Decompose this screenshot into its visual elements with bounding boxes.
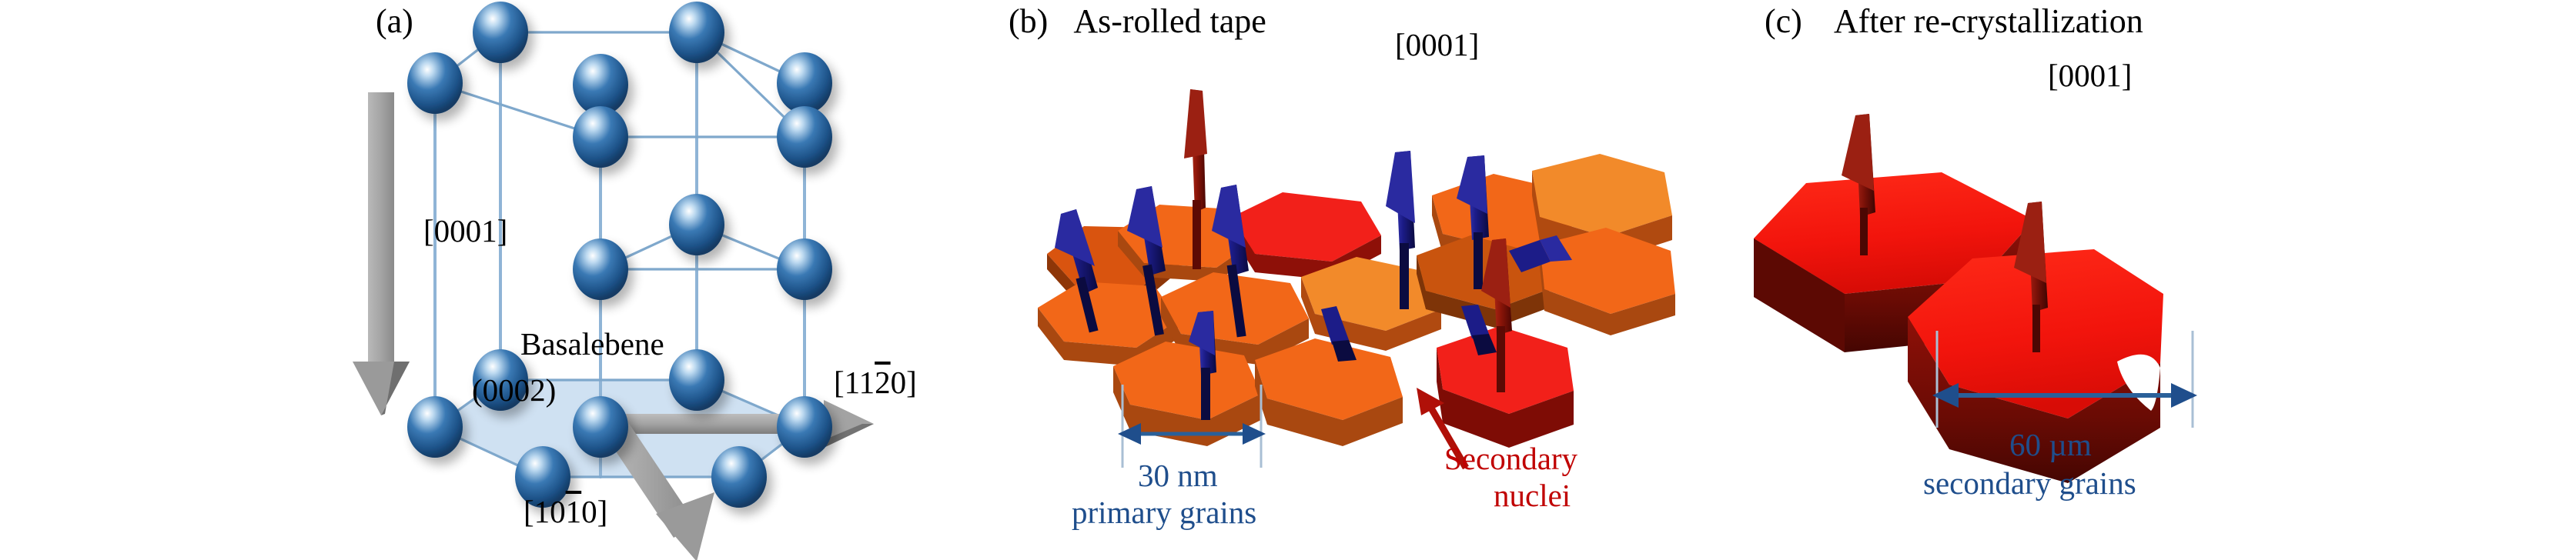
figure-root: (a) [0001] Basalebene (0002) [1010] [112… bbox=[0, 0, 2576, 560]
panel-c-tag-text: (c) bbox=[1765, 2, 1802, 40]
panel-a-basal-plane-index: (0002) bbox=[472, 375, 556, 406]
panel-b: (b) As-rolled tape [0001] 30 nm primary … bbox=[1001, 0, 1732, 560]
panel-a-a-direction-label: [1120] bbox=[834, 367, 917, 398]
grey-arrow-down bbox=[353, 92, 410, 415]
m-dir-suffix: 0] bbox=[581, 494, 607, 529]
panel-b-scale-value: 30 nm bbox=[1138, 458, 1218, 494]
panel-b-tag: (b) As-rolled tape bbox=[1009, 5, 1266, 38]
panel-b-graphic bbox=[1001, 0, 1732, 560]
panel-c: (c) After re-crystallization [0001] 60 µ… bbox=[1732, 0, 2576, 560]
panel-b-callout-line1: Secondary bbox=[1444, 442, 1577, 477]
panel-a: (a) [0001] Basalebene (0002) [1010] [112… bbox=[0, 0, 1001, 560]
a-dir-suffix: 0] bbox=[891, 365, 917, 400]
panel-c-tag: (c) After re-crystallization bbox=[1765, 5, 2143, 38]
panel-a-c-axis-label: [0001] bbox=[423, 215, 507, 247]
primary-grain-cluster bbox=[1038, 154, 1675, 448]
panel-a-m-direction-label: [1010] bbox=[524, 496, 607, 528]
panel-a-tag: (a) bbox=[376, 5, 413, 38]
panel-c-c-axis-label: [0001] bbox=[2048, 60, 2132, 92]
m-dir-prefix: [10 bbox=[524, 494, 566, 529]
a-dir-bar: 2 bbox=[875, 365, 891, 400]
panel-c-title: After re-crystallization bbox=[1834, 2, 2143, 40]
m-dir-bar: 1 bbox=[566, 494, 582, 529]
panel-b-tag-text: (b) bbox=[1009, 2, 1048, 40]
atoms-top-layer bbox=[407, 2, 832, 168]
panel-a-basal-plane-name: Basalebene bbox=[520, 328, 664, 360]
panel-b-callout-line2: nuclei bbox=[1494, 478, 1571, 514]
panel-b-c-axis-label: [0001] bbox=[1395, 29, 1479, 61]
panel-c-graphic bbox=[1732, 0, 2576, 560]
panel-b-title: As-rolled tape bbox=[1073, 2, 1266, 40]
panel-b-scale-caption: primary grains bbox=[1072, 495, 1256, 531]
grain-platelet bbox=[1255, 338, 1403, 446]
panel-c-scale-caption: secondary grains bbox=[1923, 466, 2136, 502]
a-dir-prefix: [11 bbox=[834, 365, 875, 400]
panel-a-graphic bbox=[0, 0, 1001, 560]
panel-c-scale-value: 60 µm bbox=[2009, 428, 2092, 463]
atoms-mid-layer bbox=[573, 194, 832, 300]
